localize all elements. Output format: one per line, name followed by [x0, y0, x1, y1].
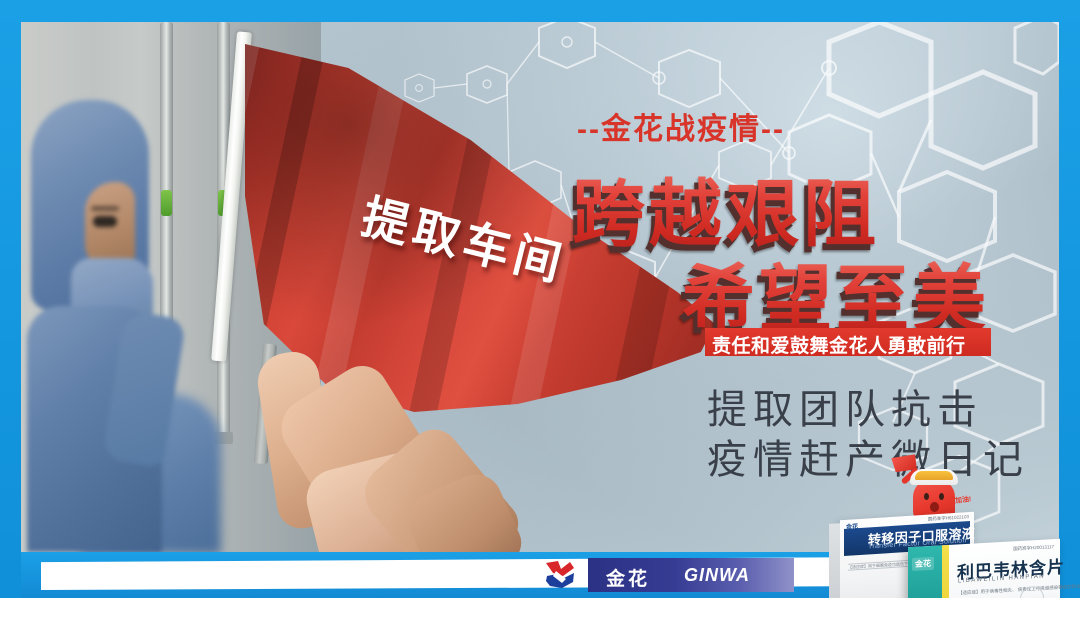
- brand-name-cn: 金花: [606, 564, 650, 591]
- product-approval-number: 国药准字H20013117: [1013, 544, 1054, 552]
- worker-eyebrow: [91, 206, 119, 211]
- ginwa-logo-icon: [544, 560, 576, 590]
- brand-name-plate: 金花 GINWA: [588, 558, 794, 592]
- mascot-cap-band: [915, 471, 953, 480]
- mascot-speech-text: 加油!: [955, 494, 972, 506]
- hands-group: [265, 352, 515, 552]
- promotional-banner: 提取车间 --金花战疫情-- 跨越艰阻 希望至美 责任和爱鼓舞金花人勇敢前行 提…: [0, 0, 1080, 634]
- worker-eye: [93, 216, 117, 227]
- red-slogan-text: 责任和爱鼓舞金花人勇敢前行: [712, 331, 966, 358]
- cleanroom-worker: [27, 100, 162, 552]
- brand-lockup: 金花 GINWA: [524, 558, 794, 592]
- product-brand-mark: 金花: [912, 557, 934, 571]
- brand-name-en: GINWA: [684, 565, 750, 586]
- mascot-mouth: [930, 502, 939, 512]
- subtitle-line-2: 疫情赶产微日记: [707, 427, 1029, 485]
- red-slogan-band: 责任和爱鼓舞金花人勇敢前行: [705, 328, 991, 356]
- mascot-eye: [924, 493, 929, 500]
- pipe-indicator-light: [161, 190, 172, 216]
- mascot-eye: [939, 493, 944, 500]
- bottom-white-strip: [0, 598, 1080, 634]
- eyebrow-text: --金花战疫情--: [577, 104, 785, 148]
